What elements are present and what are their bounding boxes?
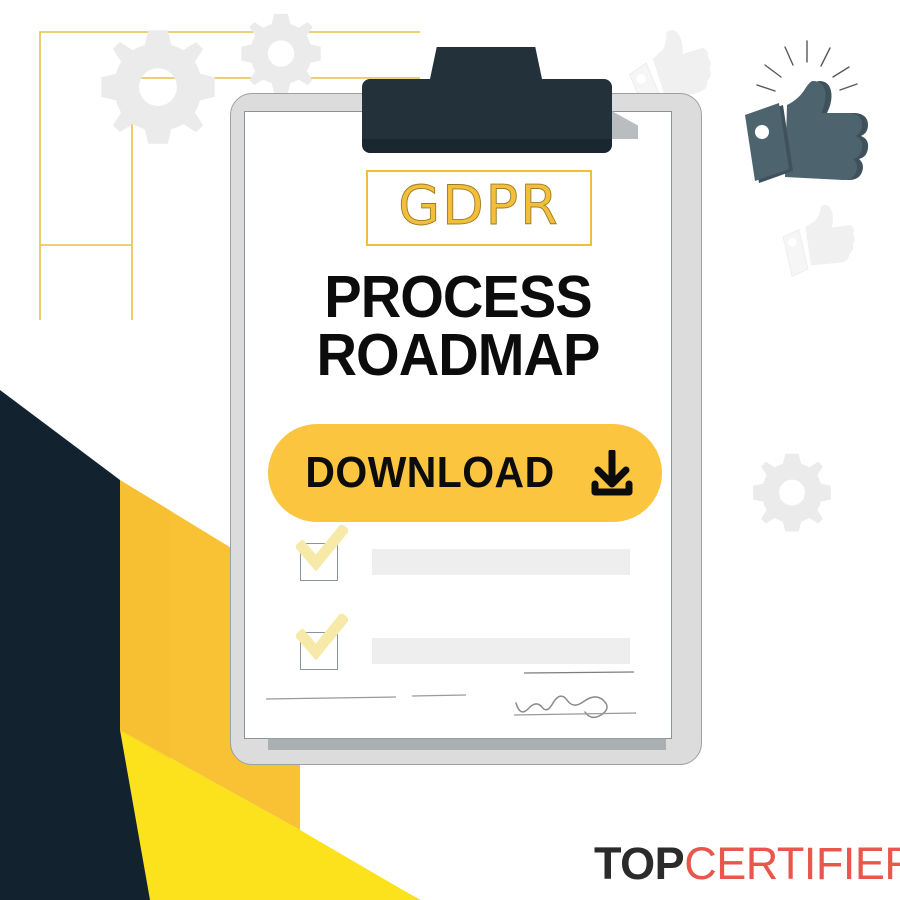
gdpr-badge: GDPR (366, 170, 592, 246)
download-arrow-icon (590, 450, 634, 496)
page-title: PROCESS ROADMAP (255, 269, 662, 385)
download-button-label: DOWNLOAD (305, 448, 554, 498)
paper-content: GDPR PROCESS ROADMAP DOWNLOAD (244, 111, 672, 739)
placeholder-bar-1 (372, 549, 630, 575)
gear-icon (88, 22, 228, 162)
clip-tab (430, 47, 542, 79)
handwritten-signature (244, 651, 672, 731)
headline-line-1: PROCESS (324, 264, 591, 330)
logo-word-top: TOP (594, 838, 684, 889)
thumbs-up-icon (770, 184, 867, 279)
checkmark-icon (296, 525, 348, 573)
clipboard-shadow-bar (268, 738, 666, 750)
logo-word-certifier: CERTIFIER (684, 838, 900, 889)
headline-line-2: ROADMAP (255, 327, 662, 385)
gear-icon (744, 448, 840, 544)
thumbs-up-icon (735, 35, 875, 195)
poster-canvas: GDPR PROCESS ROADMAP DOWNLOAD TOPCERTIFI… (0, 0, 900, 900)
download-button[interactable]: DOWNLOAD (268, 424, 662, 522)
gdpr-badge-label: GDPR (398, 179, 560, 237)
topcertifier-logo[interactable]: TOPCERTIFIER (586, 833, 886, 893)
